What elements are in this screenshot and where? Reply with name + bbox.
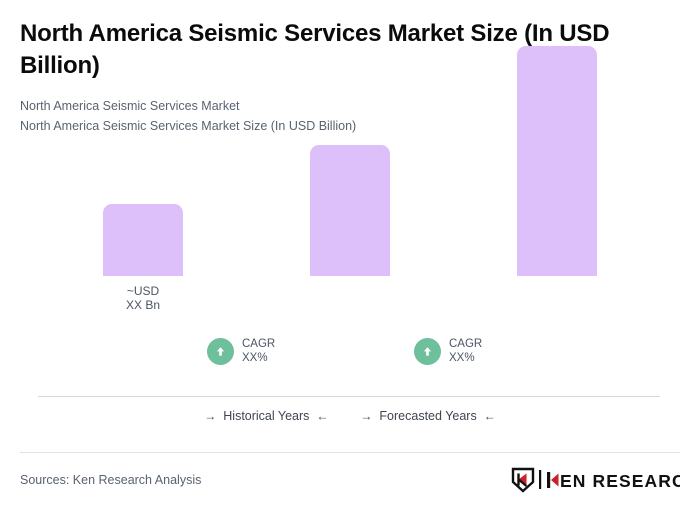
- bar-value-label-1-line2: XX Bn: [103, 298, 183, 312]
- cagr-badge-2-line1: CAGR: [449, 337, 482, 351]
- footer: Sources: Ken Research Analysis EN RESEAR…: [20, 463, 680, 497]
- ken-research-logo: EN RESEARCH: [510, 467, 680, 493]
- arrow-right-icon: →: [360, 410, 372, 422]
- footer-divider: [20, 452, 680, 453]
- bar-base-year: [310, 145, 390, 276]
- cagr-badge-1: CAGR XX%: [207, 337, 275, 365]
- bar-value-label-1-line1: ~USD: [103, 284, 183, 298]
- chart-plot-area: ~USD XX Bn ~USD 3.85 Bn ~USD XX Bn CAGR …: [0, 0, 700, 400]
- cagr-badge-1-line2: XX%: [242, 351, 275, 365]
- svg-text:EN RESEARCH: EN RESEARCH: [560, 471, 680, 491]
- period-historical-label: Historical Years: [223, 409, 309, 423]
- period-forecasted-label: Forecasted Years: [379, 409, 476, 423]
- cagr-badge-2-text: CAGR XX%: [449, 337, 482, 365]
- arrow-left-icon: ←: [316, 410, 328, 422]
- arrow-up-icon: [207, 338, 234, 365]
- cagr-badge-2: CAGR XX%: [414, 337, 482, 365]
- period-historical: → Historical Years ←: [204, 409, 328, 423]
- ken-research-logo-icon: EN RESEARCH: [510, 467, 680, 493]
- axis-baseline: [38, 396, 660, 397]
- cagr-badge-1-text: CAGR XX%: [242, 337, 275, 365]
- arrow-up-icon: [414, 338, 441, 365]
- cagr-badge-2-line2: XX%: [449, 351, 482, 365]
- cagr-badge-1-line1: CAGR: [242, 337, 275, 351]
- bar-historical: [103, 204, 183, 276]
- sources-label: Sources: Ken Research Analysis: [20, 473, 201, 487]
- bar-value-label-1: ~USD XX Bn: [103, 284, 183, 313]
- arrow-right-icon: →: [204, 410, 216, 422]
- period-forecasted: → Forecasted Years ←: [360, 409, 495, 423]
- bar-forecast: [517, 46, 597, 276]
- arrow-left-icon: ←: [484, 410, 496, 422]
- chart-page: North America Seismic Services Market Si…: [0, 0, 700, 520]
- period-legend: → Historical Years ← → Forecasted Years …: [0, 409, 700, 423]
